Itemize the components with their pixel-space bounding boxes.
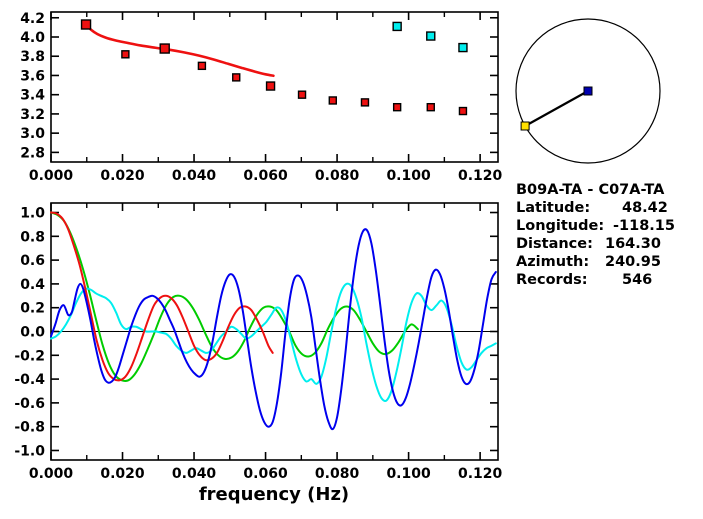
y-tick-label: 4.0: [20, 30, 45, 46]
y-tick-label: -0.8: [14, 420, 45, 436]
azimuth-path-line: [525, 91, 588, 126]
latitude-label: Latitude:: [516, 200, 590, 216]
x-tick-label: 0.120: [458, 466, 503, 482]
dispersion-measured-point: [299, 91, 306, 98]
dispersion-measured-point: [394, 104, 401, 111]
y-tick-label: -0.4: [14, 372, 45, 388]
dispersion-measured-point: [459, 108, 466, 115]
distance-value: 164.30: [605, 236, 661, 252]
dispersion-higher-mode-points: [393, 22, 467, 51]
records-value: 546: [622, 272, 652, 288]
reference-dispersion-curve: [86, 24, 273, 75]
x-tick-label: 0.040: [172, 466, 217, 482]
y-tick-label: 3.6: [20, 68, 45, 84]
x-tick-label: 0.080: [315, 466, 360, 482]
spectra-panel: 0.0000.0200.0400.0600.0800.1000.120 -1.0…: [14, 203, 502, 505]
dispersion-reference-curve: [86, 24, 273, 75]
station-pair-label: B09A-TA - C07A-TA: [516, 182, 665, 198]
y-tick-label: 2.8: [20, 145, 45, 161]
y-tick-label: 3.4: [20, 88, 45, 104]
y-tick-label: 0.4: [20, 277, 45, 293]
x-tick-label: 0.020: [100, 168, 145, 184]
spectra-x-tick-labels: 0.0000.0200.0400.0600.0800.1000.120: [29, 466, 503, 482]
dispersion-measured-point: [427, 104, 434, 111]
dispersion-measured-point: [160, 44, 169, 53]
x-tick-label: 0.060: [243, 466, 288, 482]
dispersion-measured-point: [361, 99, 368, 106]
dispersion-measured-point: [329, 97, 336, 104]
dispersion-higher-mode-point: [393, 22, 401, 30]
y-tick-label: -1.0: [14, 443, 45, 459]
y-tick-label: 3.0: [20, 126, 45, 142]
y-tick-label: 0.6: [20, 253, 45, 269]
latitude-value: 48.42: [622, 200, 668, 216]
x-tick-label: 0.020: [100, 466, 145, 482]
dispersion-measured-point: [267, 82, 275, 90]
dispersion-panel: 0.0000.0200.0400.0600.0800.1000.120 2.83…: [20, 11, 502, 184]
dispersion-measured-point: [122, 51, 129, 58]
spectra-y-tick-labels: -1.0-0.8-0.6-0.4-0.20.00.20.40.60.81.0: [14, 206, 45, 460]
dispersion-measured-point: [233, 74, 240, 81]
y-tick-label: 0.0: [20, 325, 45, 341]
plot-svg: 0.0000.0200.0400.0600.0800.1000.120 2.83…: [0, 0, 703, 519]
spectra-traces: [51, 213, 496, 430]
y-tick-label: 4.2: [20, 11, 45, 27]
x-tick-label: 0.060: [243, 168, 288, 184]
longitude-label: Longitude:: [516, 218, 604, 234]
y-tick-label: -0.2: [14, 348, 45, 364]
x-tick-label: 0.000: [29, 466, 74, 482]
y-tick-label: 0.8: [20, 229, 45, 245]
distance-label: Distance:: [516, 236, 593, 252]
y-tick-label: 3.8: [20, 49, 45, 65]
y-tick-label: 3.2: [20, 107, 45, 123]
x-tick-label: 0.100: [386, 168, 431, 184]
receiver-station-marker: [521, 122, 529, 130]
x-tick-label: 0.100: [386, 466, 431, 482]
dispersion-measured-point: [82, 20, 91, 29]
dispersion-y-tick-labels: 2.83.03.23.43.63.84.04.2: [20, 11, 45, 162]
source-station-marker: [584, 87, 592, 95]
observed-real-spectrum: [51, 229, 496, 429]
longitude-value: -118.15: [613, 218, 675, 234]
frequency-axis-title: frequency (Hz): [199, 484, 349, 505]
predicted-spectrum-green: [51, 213, 418, 381]
azimuth-value: 240.95: [605, 254, 661, 270]
x-tick-label: 0.120: [458, 168, 503, 184]
dispersion-measured-points: [82, 20, 467, 115]
observed-imaginary-spectrum: [51, 284, 496, 401]
x-tick-label: 0.040: [172, 168, 217, 184]
x-tick-label: 0.080: [315, 168, 360, 184]
azimuth-label: Azimuth:: [516, 254, 589, 270]
station-info-block: B09A-TA - C07A-TA Latitude: 48.42 Longit…: [516, 182, 675, 288]
y-tick-label: -0.6: [14, 396, 45, 412]
y-tick-label: 1.0: [20, 206, 45, 222]
dispersion-higher-mode-point: [427, 32, 435, 40]
dispersion-higher-mode-point: [459, 44, 467, 52]
azimuth-diagram: [516, 19, 660, 163]
dispersion-measured-point: [198, 62, 205, 69]
figure-canvas: 0.0000.0200.0400.0600.0800.1000.120 2.83…: [0, 0, 703, 519]
dispersion-x-tick-labels: 0.0000.0200.0400.0600.0800.1000.120: [29, 168, 503, 184]
y-tick-label: 0.2: [20, 301, 45, 317]
x-tick-label: 0.000: [29, 168, 74, 184]
records-label: Records:: [516, 272, 588, 288]
